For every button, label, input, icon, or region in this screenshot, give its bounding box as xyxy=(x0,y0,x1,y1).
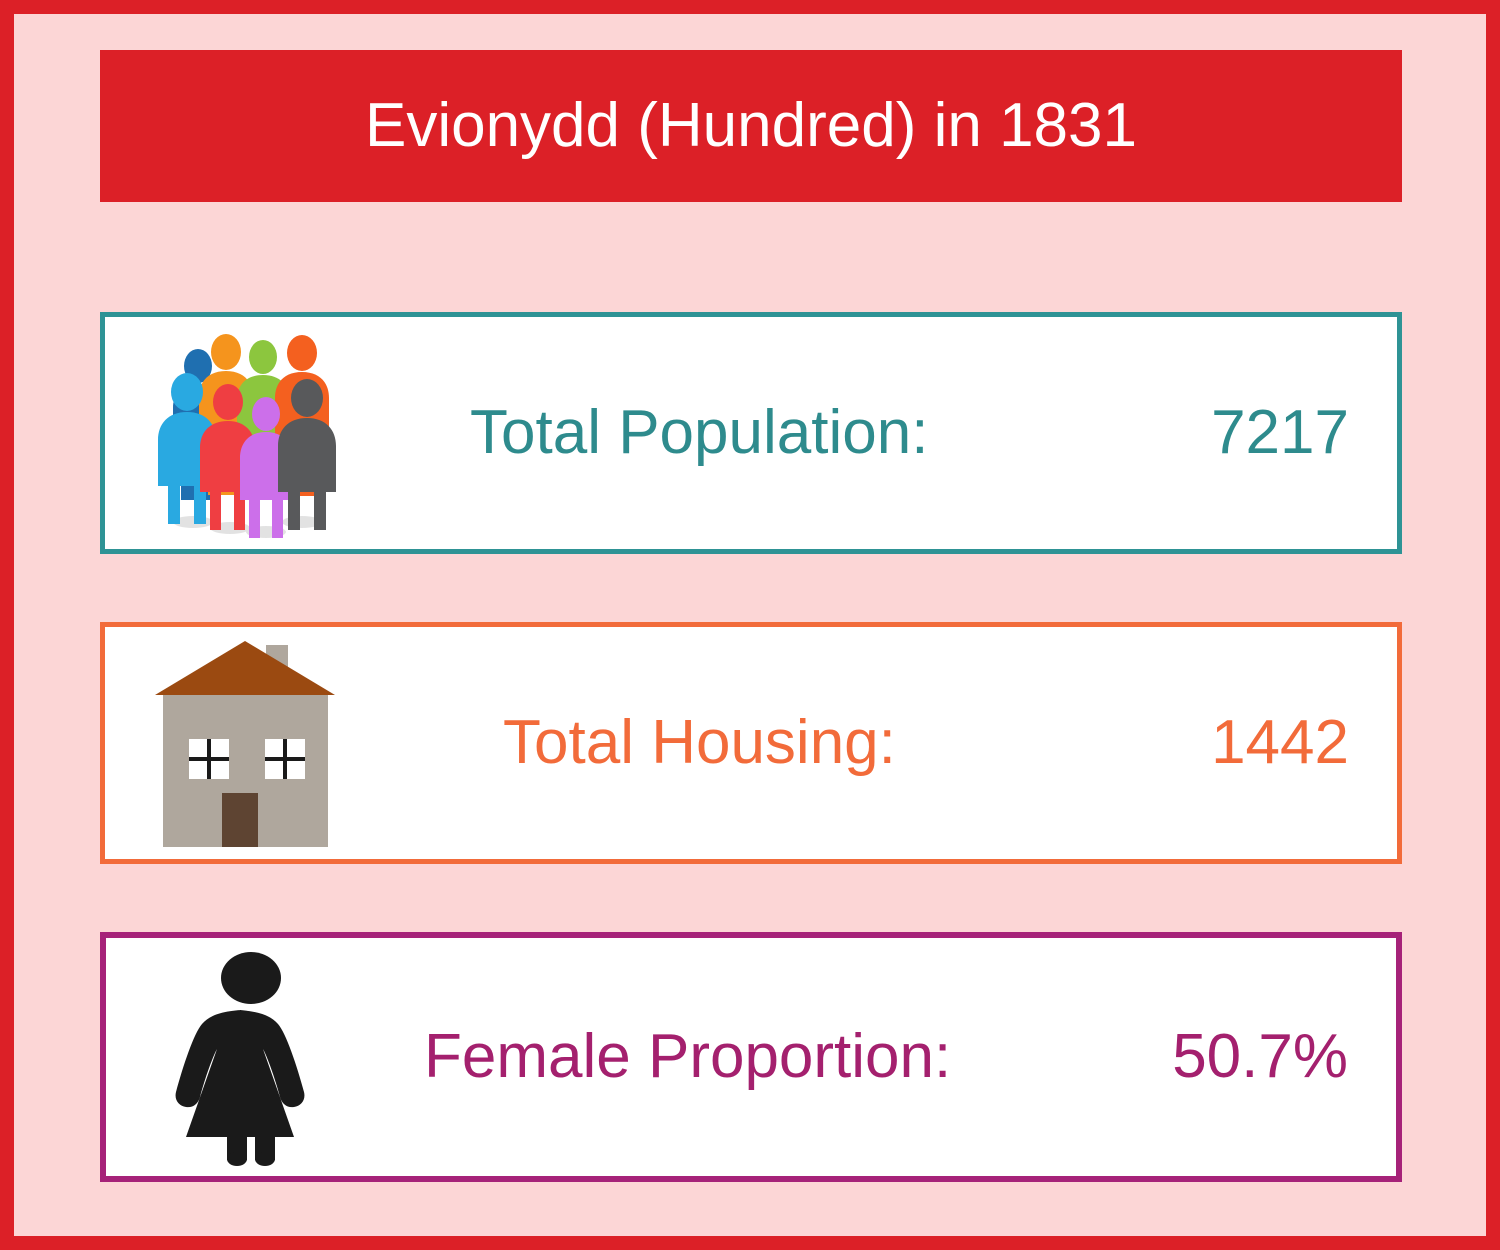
stat-label-total-population: Total Population: xyxy=(470,402,928,464)
page-title-banner: Evionydd (Hundred) in 1831 xyxy=(100,50,1402,202)
page-title: Evionydd (Hundred) in 1831 xyxy=(365,95,1137,157)
stat-card-body: Female Proportion: 50.7% xyxy=(386,938,1396,1176)
stat-label-female-proportion: Female Proportion: xyxy=(424,1026,951,1088)
stat-value-female-proportion: 50.7% xyxy=(1172,1026,1348,1088)
stat-label-total-housing: Total Housing: xyxy=(503,712,896,774)
stat-card-body: Total Population: 7217 xyxy=(385,317,1397,549)
stat-card-total-housing: Total Housing: 1442 xyxy=(100,622,1402,864)
house-icon xyxy=(105,627,385,859)
stat-value-total-housing: 1442 xyxy=(1211,712,1349,774)
group-of-people-icon xyxy=(105,317,385,549)
stat-card-female-proportion: Female Proportion: 50.7% xyxy=(100,932,1402,1182)
stat-card-body: Total Housing: 1442 xyxy=(385,627,1397,859)
infographic-frame: Evionydd (Hundred) in 1831 xyxy=(14,14,1486,1236)
female-figure-icon xyxy=(106,938,386,1176)
stat-value-total-population: 7217 xyxy=(1211,402,1349,464)
stat-card-total-population: Total Population: 7217 xyxy=(100,312,1402,554)
